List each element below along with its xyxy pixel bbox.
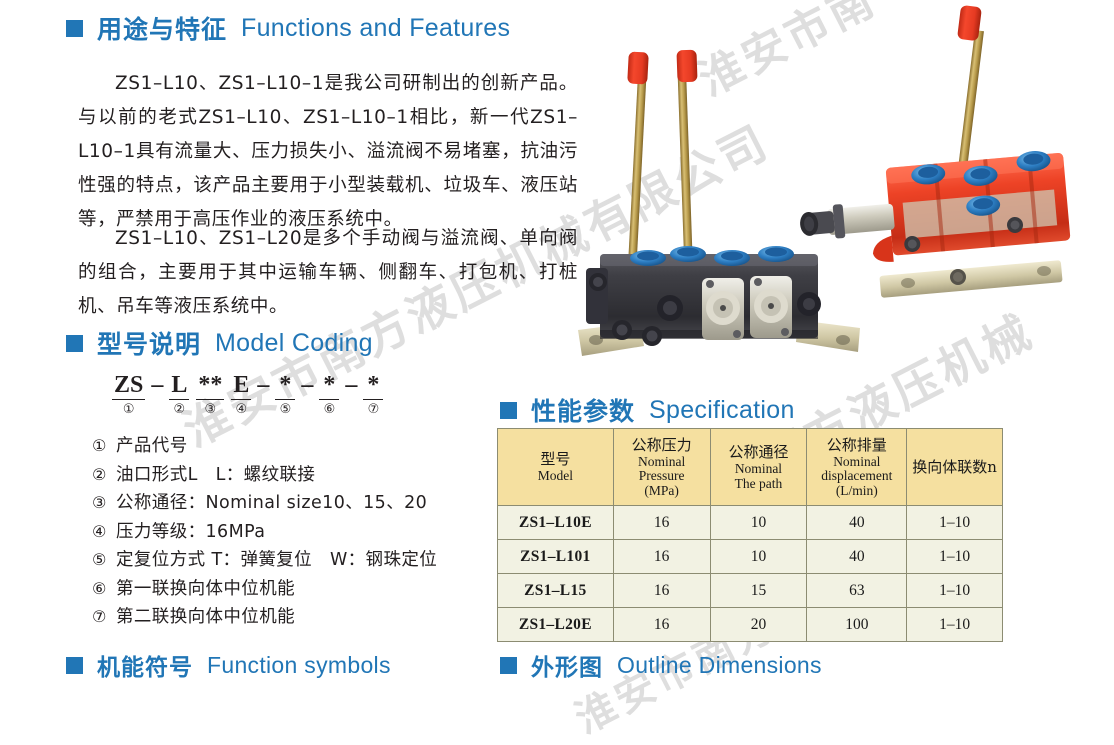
header-en: Model bbox=[500, 469, 611, 484]
coding-token-4: E ④ bbox=[231, 372, 251, 418]
header-cn: 换向体联数n bbox=[909, 458, 1000, 477]
legend-text: 公称通径：Nominal size10、15、20 bbox=[116, 489, 427, 514]
legend-index: ① bbox=[92, 436, 116, 455]
legend-item: ② 油口形式L L：螺纹联接 bbox=[92, 461, 437, 490]
heading-outline-cn: 外形图 bbox=[531, 648, 603, 682]
column-header-model: 型号 Model bbox=[498, 429, 614, 506]
heading-spec-en: Specification bbox=[649, 396, 795, 425]
legend-text: 第一联换向体中位机能 bbox=[116, 575, 295, 600]
header-en: The path bbox=[713, 477, 805, 492]
column-header-nominal-pressure: 公称压力 Nominal Pressure (MPa) bbox=[613, 429, 710, 506]
coding-index: ⑥ bbox=[324, 402, 336, 418]
cell-path: 15 bbox=[710, 574, 807, 608]
column-header-sections: 换向体联数n bbox=[907, 429, 1003, 506]
bullet-square-icon bbox=[66, 657, 83, 674]
coding-glyph: E bbox=[231, 372, 251, 400]
coding-separator: – bbox=[339, 372, 363, 398]
cell-sections: 1–10 bbox=[907, 574, 1003, 608]
table-row: ZS1–L101 16 10 40 1–10 bbox=[498, 540, 1003, 574]
cell-path: 20 bbox=[710, 608, 807, 642]
legend-item: ④ 压力等级：16MPa bbox=[92, 518, 437, 547]
cell-sections: 1–10 bbox=[907, 608, 1003, 642]
bullet-square-icon bbox=[66, 335, 83, 352]
cell-pressure: 16 bbox=[613, 540, 710, 574]
heading-model-cn: 型号说明 bbox=[97, 325, 201, 361]
heading-functions-cn: 用途与特征 bbox=[97, 10, 227, 46]
heading-specification: 性能参数 Specification bbox=[500, 392, 795, 428]
coding-index: ③ bbox=[205, 402, 217, 418]
cell-pressure: 16 bbox=[613, 608, 710, 642]
coding-token-7: * ⑦ bbox=[363, 372, 383, 418]
product-photo bbox=[560, 0, 1114, 388]
column-header-nominal-displacement: 公称排量 Nominal displacement (L/min) bbox=[807, 429, 907, 506]
header-en: Pressure bbox=[616, 469, 708, 484]
header-cn: 公称通径 bbox=[713, 443, 805, 462]
cell-sections: 1–10 bbox=[907, 506, 1003, 540]
table-header-row: 型号 Model 公称压力 Nominal Pressure (MPa) 公称通… bbox=[498, 429, 1003, 506]
cell-path: 10 bbox=[710, 506, 807, 540]
header-en: Nominal bbox=[616, 455, 708, 470]
cell-model: ZS1–L101 bbox=[498, 540, 614, 574]
coding-token-3: ** ③ bbox=[196, 372, 224, 418]
coding-glyph: * bbox=[275, 372, 295, 400]
cell-displacement: 40 bbox=[807, 540, 907, 574]
cell-displacement: 100 bbox=[807, 608, 907, 642]
legend-text: 定复位方式 T：弹簧复位 W：钢珠定位 bbox=[116, 546, 437, 571]
heading-model-coding: 型号说明 Model Coding bbox=[66, 325, 373, 361]
cell-pressure: 16 bbox=[613, 574, 710, 608]
coding-separator: – bbox=[295, 372, 319, 398]
coding-token-1: ZS ① bbox=[112, 372, 145, 418]
heading-functions-en: Functions and Features bbox=[241, 14, 510, 43]
coding-index: ④ bbox=[236, 402, 248, 418]
coding-separator: – bbox=[251, 372, 275, 398]
paragraph-features-2: ZS1–L10、ZS1–L20是多个手动阀与溢流阀、单向阀的组合，主要用于其中运… bbox=[78, 222, 578, 324]
coding-glyph: * bbox=[319, 372, 339, 400]
column-header-nominal-path: 公称通径 Nominal The path bbox=[710, 429, 807, 506]
coding-separator: – bbox=[145, 372, 169, 398]
legend-index: ② bbox=[92, 465, 116, 484]
coding-glyph: ZS bbox=[112, 372, 145, 400]
red-valve-assembly bbox=[796, 5, 1072, 298]
legend-index: ⑦ bbox=[92, 607, 116, 626]
product-catalog-page: 淮安市南 淮安市南方液压机械有限公司 南方液压机械 淮安市南方液压 bbox=[0, 0, 1114, 687]
legend-item: ③ 公称通径：Nominal size10、15、20 bbox=[92, 489, 437, 518]
heading-spec-cn: 性能参数 bbox=[531, 392, 635, 428]
cell-path: 10 bbox=[710, 540, 807, 574]
legend-text: 产品代号 bbox=[116, 432, 188, 457]
heading-symbols-en: Function symbols bbox=[207, 652, 391, 679]
legend-text: 油口形式L L：螺纹联接 bbox=[116, 461, 315, 486]
heading-functions-and-features: 用途与特征 Functions and Features bbox=[66, 10, 510, 46]
coding-index: ① bbox=[123, 402, 135, 418]
cell-pressure: 16 bbox=[613, 506, 710, 540]
heading-outline-en: Outline Dimensions bbox=[617, 652, 822, 679]
header-en: (MPa) bbox=[616, 484, 708, 499]
paragraph-features-1: ZS1–L10、ZS1–L10–1是我公司研制出的创新产品。与以前的老式ZS1–… bbox=[78, 67, 578, 237]
dark-valve-levers bbox=[627, 50, 697, 268]
dark-valve-assembly bbox=[578, 50, 860, 356]
coding-token-6: * ⑥ bbox=[319, 372, 339, 418]
coding-glyph: ** bbox=[196, 372, 224, 400]
header-cn: 型号 bbox=[500, 450, 611, 469]
bullet-square-icon bbox=[500, 657, 517, 674]
heading-function-symbols: 机能符号 Function symbols bbox=[66, 648, 391, 682]
coding-token-2: L ② bbox=[169, 372, 189, 418]
bullet-square-icon bbox=[500, 402, 517, 419]
cell-displacement: 63 bbox=[807, 574, 907, 608]
table-row: ZS1–L10E 16 10 40 1–10 bbox=[498, 506, 1003, 540]
coding-glyph: L bbox=[169, 372, 189, 400]
legend-index: ③ bbox=[92, 493, 116, 512]
legend-text: 压力等级：16MPa bbox=[116, 518, 265, 543]
legend-item: ⑤ 定复位方式 T：弹簧复位 W：钢珠定位 bbox=[92, 546, 437, 575]
cell-model: ZS1–L20E bbox=[498, 608, 614, 642]
legend-index: ④ bbox=[92, 522, 116, 541]
table-row: ZS1–L15 16 15 63 1–10 bbox=[498, 574, 1003, 608]
table-row: ZS1–L20E 16 20 100 1–10 bbox=[498, 608, 1003, 642]
heading-outline-dimensions: 外形图 Outline Dimensions bbox=[500, 648, 822, 682]
coding-index: ⑤ bbox=[280, 402, 292, 418]
cell-model: ZS1–L15 bbox=[498, 574, 614, 608]
header-en: (L/min) bbox=[809, 484, 904, 499]
coding-index: ② bbox=[174, 402, 186, 418]
heading-model-en: Model Coding bbox=[215, 329, 373, 358]
header-en: Nominal bbox=[713, 462, 805, 477]
header-cn: 公称排量 bbox=[809, 436, 904, 455]
header-en: displacement bbox=[809, 469, 904, 484]
coding-glyph: * bbox=[363, 372, 383, 400]
coding-token-5: * ⑤ bbox=[275, 372, 295, 418]
model-coding-formula: ZS ① – L ② ** ③ E ④ – * ⑤ – * ⑥ – * bbox=[112, 372, 383, 418]
legend-item: ⑦ 第二联换向体中位机能 bbox=[92, 603, 437, 632]
bullet-square-icon bbox=[66, 20, 83, 37]
header-en: Nominal bbox=[809, 455, 904, 470]
legend-index: ⑥ bbox=[92, 579, 116, 598]
legend-index: ⑤ bbox=[92, 550, 116, 569]
legend-item: ① 产品代号 bbox=[92, 432, 437, 461]
legend-item: ⑥ 第一联换向体中位机能 bbox=[92, 575, 437, 604]
coding-index: ⑦ bbox=[368, 402, 380, 418]
specification-table: 型号 Model 公称压力 Nominal Pressure (MPa) 公称通… bbox=[497, 428, 1003, 642]
cell-displacement: 40 bbox=[807, 506, 907, 540]
cell-model: ZS1–L10E bbox=[498, 506, 614, 540]
model-coding-legend: ① 产品代号 ② 油口形式L L：螺纹联接 ③ 公称通径：Nominal siz… bbox=[92, 432, 437, 632]
cell-sections: 1–10 bbox=[907, 540, 1003, 574]
header-cn: 公称压力 bbox=[616, 436, 708, 455]
heading-symbols-cn: 机能符号 bbox=[97, 648, 193, 682]
legend-text: 第二联换向体中位机能 bbox=[116, 603, 295, 628]
